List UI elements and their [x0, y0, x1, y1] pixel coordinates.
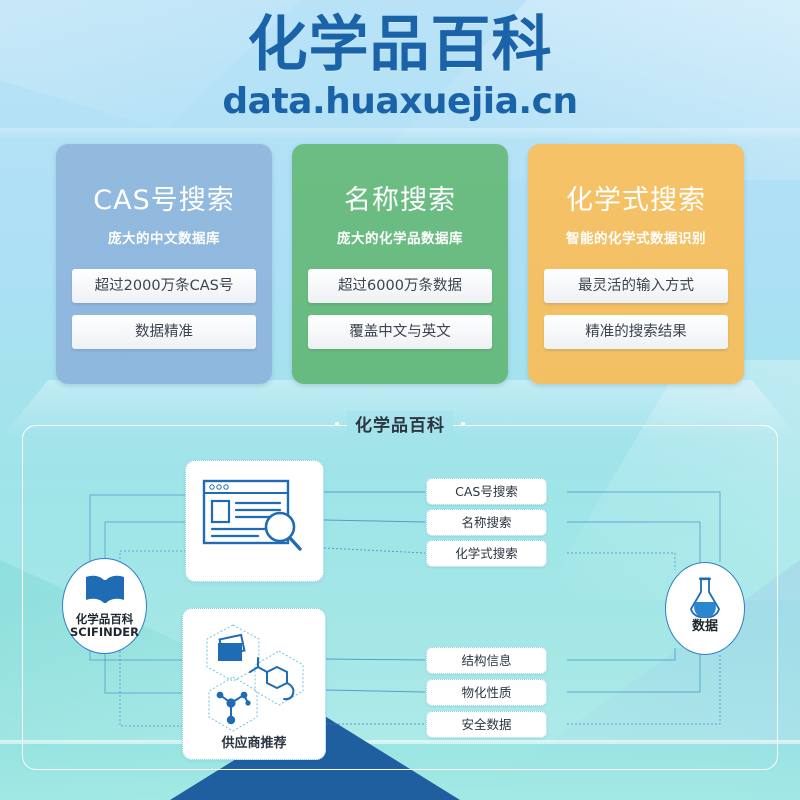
- node-scifinder-label: 化学品百科 SCIFINDER: [63, 613, 146, 639]
- chip-safety-data[interactable]: 安全数据: [426, 711, 547, 738]
- node-data-label: 数据: [666, 620, 744, 635]
- panel-search[interactable]: [185, 460, 324, 582]
- node-scifinder[interactable]: 化学品百科 SCIFINDER: [62, 558, 147, 654]
- node-scifinder-line1: 化学品百科: [63, 613, 146, 626]
- chip-physchem-props[interactable]: 物化性质: [426, 679, 547, 706]
- node-scifinder-line2: SCIFINDER: [63, 626, 146, 639]
- page-root: 化学品百科 data.huaxuejia.cn CAS号搜索 庞大的中文数据库 …: [0, 0, 800, 800]
- chip-structure-info[interactable]: 结构信息: [426, 647, 547, 674]
- open-book-icon: [82, 573, 128, 607]
- browser-search-icon: [202, 479, 306, 561]
- chip-name-search[interactable]: 名称搜索: [426, 509, 547, 536]
- panel-supplier[interactable]: 供应商推荐: [182, 608, 326, 760]
- panel-supplier-caption: 供应商推荐: [183, 732, 325, 751]
- diagram-connectors: [0, 0, 800, 800]
- hexagon-molecule-icon: [195, 621, 315, 733]
- node-data[interactable]: 数据: [665, 562, 745, 655]
- flask-icon: [686, 575, 724, 621]
- chip-cas-search[interactable]: CAS号搜索: [426, 478, 547, 505]
- chip-formula-search[interactable]: 化学式搜索: [426, 540, 547, 567]
